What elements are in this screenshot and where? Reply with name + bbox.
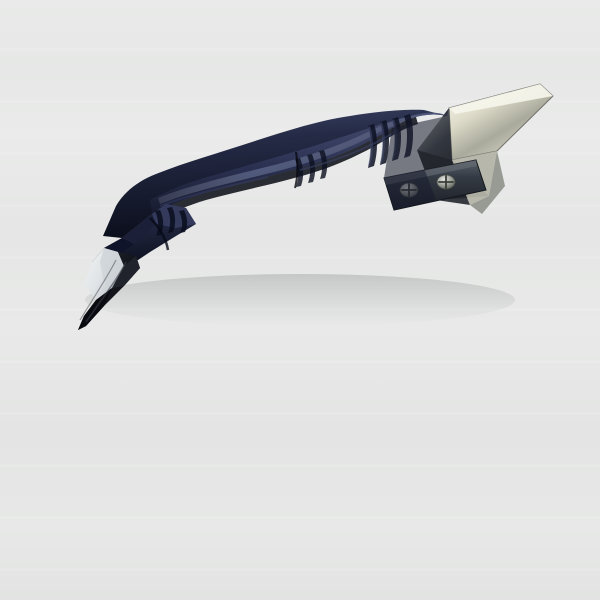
product-image-canvas: Features: 1.Multif-Function Design 2.Sil… xyxy=(0,0,600,600)
product-photo xyxy=(0,0,600,360)
screw-right xyxy=(437,175,455,189)
features-section: Features: 1.Multif-Function Design 2.Sil… xyxy=(0,360,600,600)
product-shadow xyxy=(85,274,515,326)
